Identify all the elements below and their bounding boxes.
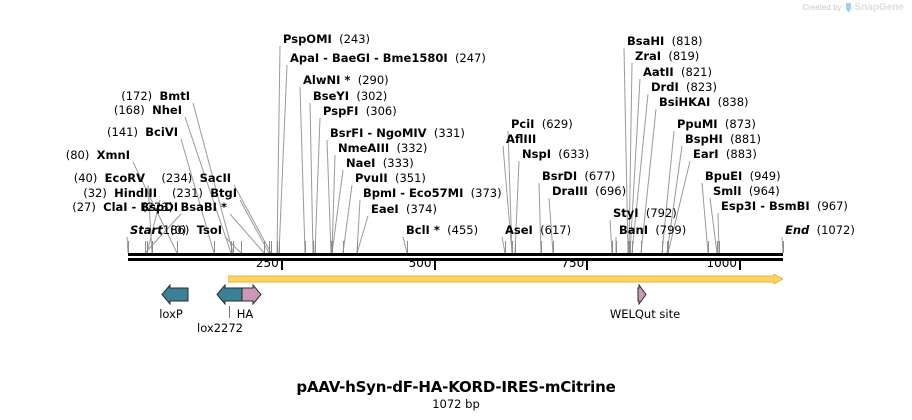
enzyme-name: BciVI bbox=[145, 125, 178, 139]
orf-arrow-shape[interactable] bbox=[228, 274, 783, 284]
feature-arrow-shape bbox=[242, 285, 261, 304]
feature-label-welqut[interactable]: WELQut site bbox=[610, 307, 680, 321]
enzyme-label-eari[interactable]: EarI (883) bbox=[693, 148, 757, 160]
restriction-site-tick bbox=[145, 241, 146, 253]
enzyme-name: AflIII bbox=[506, 132, 536, 146]
restriction-site-tick bbox=[128, 241, 129, 253]
restriction-site-tick bbox=[231, 241, 232, 253]
enzyme-position: (331) bbox=[434, 126, 465, 140]
ruler-tick-label-750: 750 bbox=[561, 256, 586, 270]
enzyme-position: (373) bbox=[471, 186, 502, 200]
restriction-site-tick bbox=[315, 241, 316, 253]
enzyme-name: SmlI bbox=[713, 184, 742, 198]
page-title: pAAV-hSyn-dF-HA-KORD-IRES-mCitrine bbox=[0, 378, 912, 396]
enzyme-position: (80) bbox=[66, 148, 90, 162]
enzyme-position: (823) bbox=[686, 80, 717, 94]
enzyme-name: PspFI bbox=[323, 104, 358, 118]
enzyme-position: (964) bbox=[749, 184, 780, 198]
plasmid-size-label: 1072 bp bbox=[0, 397, 912, 411]
enzyme-position: (234) bbox=[161, 171, 192, 185]
restriction-site-tick bbox=[541, 241, 542, 253]
restriction-site-tick bbox=[708, 241, 709, 253]
feature-label-ha[interactable]: HA bbox=[237, 307, 254, 321]
restriction-site-tick bbox=[630, 241, 631, 253]
enzyme-label-pspomi[interactable]: PspOMI (243) bbox=[283, 33, 370, 45]
feature-track: loxPlox2272HAWELQut site bbox=[0, 284, 912, 354]
enzyme-label-pvuii[interactable]: PvuII (351) bbox=[355, 172, 426, 184]
enzyme-position: (302) bbox=[356, 89, 387, 103]
enzyme-name-separator: - bbox=[756, 199, 769, 213]
enzyme-position: (629) bbox=[542, 117, 573, 131]
enzyme-star-marker: * bbox=[340, 73, 350, 87]
enzyme-label-asei[interactable]: AseI (617) bbox=[505, 224, 571, 236]
enzyme-position: (873) bbox=[725, 117, 756, 131]
enzyme-label-naei[interactable]: NaeI (333) bbox=[346, 157, 414, 169]
enzyme-name: XmnI bbox=[97, 148, 130, 162]
enzyme-label-afliii[interactable]: AflIII bbox=[506, 133, 536, 145]
enzyme-position: (186) bbox=[158, 223, 189, 237]
feature-leader-line bbox=[229, 306, 230, 318]
enzyme-label-end[interactable]: End (1072) bbox=[785, 224, 855, 236]
enzyme-name: BtgI bbox=[210, 186, 237, 200]
enzyme-position: (223) bbox=[142, 200, 173, 214]
enzyme-name-separator: - bbox=[370, 51, 383, 65]
enzyme-name: BmtI bbox=[159, 89, 190, 103]
ruler-tick-mark bbox=[586, 261, 588, 270]
ruler-tick-label-250: 250 bbox=[256, 256, 281, 270]
enzyme-position: (821) bbox=[681, 65, 712, 79]
enzyme-name: BsaHI bbox=[627, 34, 664, 48]
enzyme-position: (332) bbox=[396, 141, 427, 155]
restriction-site-tick bbox=[271, 241, 272, 253]
enzyme-label-bseyi[interactable]: BseYI (302) bbox=[313, 90, 387, 102]
restriction-site-tick bbox=[177, 241, 178, 253]
enzyme-position: (949) bbox=[750, 169, 781, 183]
restriction-site-tick bbox=[407, 241, 408, 253]
restriction-site-tick bbox=[152, 241, 153, 253]
feature-label-lox2272[interactable]: lox2272 bbox=[197, 321, 243, 335]
enzyme-name: AlwNI bbox=[303, 73, 340, 87]
restriction-site-tick bbox=[612, 241, 613, 253]
restriction-site-tick bbox=[505, 241, 506, 253]
feature-arrow-shape bbox=[217, 285, 243, 304]
enzyme-position: (231) bbox=[172, 186, 203, 200]
restriction-site-tick bbox=[305, 241, 306, 253]
enzyme-position: (633) bbox=[558, 147, 589, 161]
restriction-site-tick bbox=[668, 241, 669, 253]
enzyme-label-btgi[interactable]: (231) BtgI bbox=[0, 187, 237, 199]
ruler-tick-mark bbox=[739, 261, 741, 270]
feature-arrow-welqut[interactable] bbox=[637, 284, 647, 305]
enzyme-label-bpuei[interactable]: BpuEI (949) bbox=[705, 170, 781, 182]
title-block: pAAV-hSyn-dF-HA-KORD-IRES-mCitrine 1072 … bbox=[0, 378, 912, 411]
enzyme-position: (881) bbox=[730, 132, 761, 146]
enzyme-label-bsphi[interactable]: BspHI (881) bbox=[685, 133, 761, 145]
enzyme-position: (696) bbox=[595, 184, 626, 198]
enzyme-label-nhei[interactable]: (168) NheI bbox=[0, 104, 182, 116]
enzyme-name: BsrDI bbox=[542, 169, 577, 183]
enzyme-label-pcii[interactable]: PciI (629) bbox=[511, 118, 573, 130]
restriction-site-tick bbox=[241, 241, 242, 253]
enzyme-name: ZraI bbox=[635, 49, 661, 63]
enzyme-label-apai-baegi-bme1580i[interactable]: ApaI - BaeGI - Bme1580I (247) bbox=[290, 52, 486, 64]
enzyme-label-pspfi[interactable]: PspFI (306) bbox=[323, 105, 397, 117]
enzyme-label-bsahi[interactable]: BsaHI (818) bbox=[627, 35, 703, 47]
sequence-ruler: 2505007501000 bbox=[0, 252, 912, 274]
feature-arrow-loxp[interactable] bbox=[161, 284, 189, 305]
enzyme-name: BsaBI bbox=[181, 200, 217, 214]
enzyme-name: NheI bbox=[152, 103, 182, 117]
restriction-site-tick bbox=[279, 241, 280, 253]
enzyme-name: Eco57MI bbox=[409, 186, 463, 200]
enzyme-name: PspOMI bbox=[283, 32, 332, 46]
enzyme-name: NaeI bbox=[346, 156, 375, 170]
enzyme-label-ppumi[interactable]: PpuMI (873) bbox=[677, 118, 756, 130]
enzyme-position: (247) bbox=[455, 51, 486, 65]
enzyme-name: NmeAIII bbox=[338, 141, 389, 155]
enzyme-label-bsrfi-ngomiv[interactable]: BsrFI - NgoMIV (331) bbox=[330, 127, 465, 139]
enzyme-position: (819) bbox=[668, 49, 699, 63]
ruler-tick-mark bbox=[281, 261, 283, 270]
enzyme-name: BpmI bbox=[363, 186, 396, 200]
restriction-site-tick bbox=[277, 241, 278, 253]
enzyme-label-bsrdi[interactable]: BsrDI (677) bbox=[542, 170, 615, 182]
feature-arrow-shape bbox=[638, 285, 646, 304]
orf-arrow bbox=[228, 274, 783, 284]
enzyme-position: (617) bbox=[540, 223, 571, 237]
ruler-tick-label-1000: 1000 bbox=[706, 256, 739, 270]
enzyme-name: BsmBI bbox=[769, 199, 810, 213]
enzyme-name: BsrFI bbox=[330, 126, 363, 140]
enzyme-label-esp3i-bsmbi[interactable]: Esp3I - BsmBI (967) bbox=[721, 200, 848, 212]
enzyme-name: EaeI bbox=[371, 202, 399, 216]
enzyme-position: (883) bbox=[726, 147, 757, 161]
enzyme-name: BsiHKAI bbox=[659, 95, 710, 109]
restriction-site-tick bbox=[662, 241, 663, 253]
enzyme-label-drdi[interactable]: DrdI (823) bbox=[651, 81, 717, 93]
enzyme-position: (799) bbox=[655, 223, 686, 237]
enzyme-label-zrai[interactable]: ZraI (819) bbox=[635, 50, 699, 62]
restriction-site-tick bbox=[332, 241, 333, 253]
enzyme-name-separator: - bbox=[319, 51, 332, 65]
enzyme-name-separator: - bbox=[363, 126, 376, 140]
ruler-tick-label-500: 500 bbox=[409, 256, 434, 270]
enzyme-position: (967) bbox=[817, 199, 848, 213]
enzyme-position: (792) bbox=[646, 206, 677, 220]
enzyme-name: PpuMI bbox=[677, 117, 718, 131]
feature-arrow-ha[interactable] bbox=[241, 284, 262, 305]
feature-arrow-shape bbox=[162, 285, 188, 304]
feature-label-loxp[interactable]: loxP bbox=[159, 307, 183, 321]
enzyme-label-eaei[interactable]: EaeI (374) bbox=[371, 203, 437, 215]
enzyme-name: BanI bbox=[619, 223, 648, 237]
enzyme-name: TsoI bbox=[197, 223, 222, 237]
enzyme-name: DrdI bbox=[651, 80, 679, 94]
restriction-site-tick bbox=[616, 241, 617, 253]
restriction-site-tick bbox=[147, 241, 148, 253]
enzyme-name: NspI bbox=[522, 147, 551, 161]
enzyme-name: AatII bbox=[643, 65, 674, 79]
enzyme-label-alwni[interactable]: AlwNI * (290) bbox=[303, 74, 389, 86]
enzyme-name: DraIII bbox=[552, 184, 588, 198]
enzyme-label-bcli[interactable]: BclI * (455) bbox=[406, 224, 478, 236]
enzyme-name: PvuII bbox=[355, 171, 388, 185]
restriction-site-tick bbox=[717, 241, 718, 253]
enzyme-position: (1072) bbox=[817, 223, 855, 237]
enzyme-name: BspHI bbox=[685, 132, 723, 146]
feature-arrow-lox2272[interactable] bbox=[216, 284, 244, 305]
restriction-site-tick bbox=[269, 241, 270, 253]
enzyme-label-bsihkai[interactable]: BsiHKAI (838) bbox=[659, 96, 749, 108]
enzyme-label-xmni[interactable]: (80) XmnI bbox=[0, 149, 130, 161]
enzyme-name: NgoMIV bbox=[376, 126, 426, 140]
enzyme-label-layer: Start (0)(27) ClaI - BspDI(32) HindIII(4… bbox=[0, 0, 912, 250]
enzyme-label-bsabi[interactable]: (223) BsaBI * bbox=[0, 201, 227, 213]
enzyme-position: (168) bbox=[114, 103, 145, 117]
enzyme-star-marker: * bbox=[217, 200, 227, 214]
enzyme-name: End bbox=[785, 223, 809, 237]
restriction-site-tick bbox=[641, 241, 642, 253]
enzyme-position: (677) bbox=[584, 169, 615, 183]
enzyme-position: (172) bbox=[121, 89, 152, 103]
enzyme-position: (818) bbox=[672, 34, 703, 48]
restriction-site-tick bbox=[233, 241, 234, 253]
enzyme-label-nspi[interactable]: NspI (633) bbox=[522, 148, 589, 160]
restriction-site-tick bbox=[357, 241, 358, 253]
enzyme-label-aatii[interactable]: AatII (821) bbox=[643, 66, 712, 78]
enzyme-name-separator: - bbox=[396, 186, 409, 200]
snapgene-map-canvas: Created by SnapGene Start (0)(27) ClaI -… bbox=[0, 0, 912, 420]
restriction-site-tick bbox=[214, 241, 215, 253]
enzyme-position: (455) bbox=[447, 223, 478, 237]
restriction-site-tick bbox=[512, 241, 513, 253]
enzyme-star-marker: * bbox=[430, 223, 440, 237]
restriction-site-tick bbox=[343, 241, 344, 253]
restriction-site-tick bbox=[632, 241, 633, 253]
restriction-site-tick bbox=[783, 241, 784, 253]
restriction-site-tick bbox=[553, 241, 554, 253]
enzyme-position: (351) bbox=[395, 171, 426, 185]
enzyme-name: BclI bbox=[406, 223, 430, 237]
enzyme-label-bpmi-eco57mi[interactable]: BpmI - Eco57MI (373) bbox=[363, 187, 502, 199]
restriction-site-tick bbox=[719, 241, 720, 253]
enzyme-name: SacII bbox=[200, 171, 231, 185]
enzyme-name: AseI bbox=[505, 223, 533, 237]
enzyme-name: BaeGI bbox=[332, 51, 370, 65]
enzyme-position: (374) bbox=[406, 202, 437, 216]
enzyme-label-smli[interactable]: SmlI (964) bbox=[713, 185, 780, 197]
enzyme-name: Esp3I bbox=[721, 199, 756, 213]
ruler-tick-mark bbox=[434, 261, 436, 270]
enzyme-label-bcivi[interactable]: (141) BciVI bbox=[0, 126, 178, 138]
enzyme-name: BpuEI bbox=[705, 169, 742, 183]
enzyme-label-bani[interactable]: BanI (799) bbox=[619, 224, 686, 236]
enzyme-label-tsoi[interactable]: (186) TsoI bbox=[0, 224, 222, 236]
enzyme-label-sacii[interactable]: (234) SacII bbox=[0, 172, 231, 184]
enzyme-name: StyI bbox=[613, 206, 639, 220]
restriction-site-tick bbox=[313, 241, 314, 253]
enzyme-position: (306) bbox=[366, 104, 397, 118]
enzyme-label-styi[interactable]: StyI (792) bbox=[613, 207, 677, 219]
enzyme-name: EarI bbox=[693, 147, 719, 161]
enzyme-position: (141) bbox=[107, 125, 138, 139]
restriction-site-tick bbox=[264, 241, 265, 253]
enzyme-name: BseYI bbox=[313, 89, 349, 103]
enzyme-label-bmti[interactable]: (172) BmtI bbox=[0, 90, 190, 102]
enzyme-label-draiii[interactable]: DraIII (696) bbox=[552, 185, 626, 197]
enzyme-name: Bme1580I bbox=[383, 51, 448, 65]
enzyme-position: (290) bbox=[358, 73, 389, 87]
enzyme-name: PciI bbox=[511, 117, 534, 131]
enzyme-position: (838) bbox=[718, 95, 749, 109]
enzyme-position: (333) bbox=[383, 156, 414, 170]
restriction-site-tick bbox=[515, 241, 516, 253]
enzyme-position: (243) bbox=[339, 32, 370, 46]
enzyme-name: ApaI bbox=[290, 51, 319, 65]
enzyme-label-nmeaiii[interactable]: NmeAIII (332) bbox=[338, 142, 427, 154]
